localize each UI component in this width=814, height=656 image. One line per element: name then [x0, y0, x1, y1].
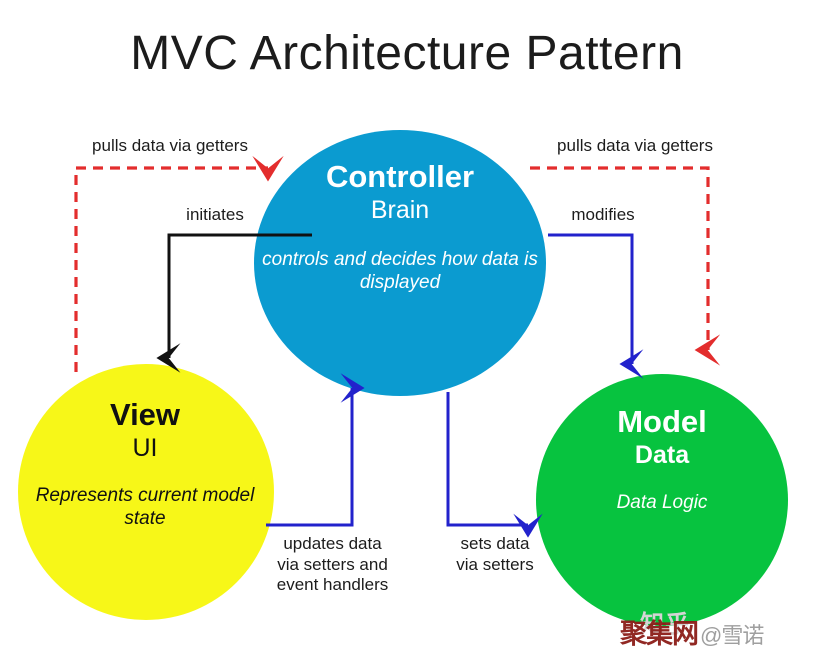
edge-pulls-left [76, 168, 268, 372]
watermark-main-text: 聚集网 [620, 612, 698, 651]
view-circle[interactable] [18, 364, 274, 620]
edge-modifies [548, 235, 632, 364]
controller-circle[interactable] [254, 130, 546, 396]
watermark: 聚集网 @雪诺 [620, 612, 763, 651]
mvc-diagram-svg [0, 0, 814, 656]
watermark-sub-text: @雪诺 [700, 618, 763, 650]
edge-sets [448, 392, 528, 525]
edge-pulls-right [530, 168, 708, 350]
page-title: MVC Architecture Pattern [0, 26, 814, 81]
model-circle[interactable] [536, 374, 788, 626]
diagram-canvas: MVC Architecture Pattern Controller Brai… [0, 0, 814, 656]
edge-updates [266, 388, 352, 525]
